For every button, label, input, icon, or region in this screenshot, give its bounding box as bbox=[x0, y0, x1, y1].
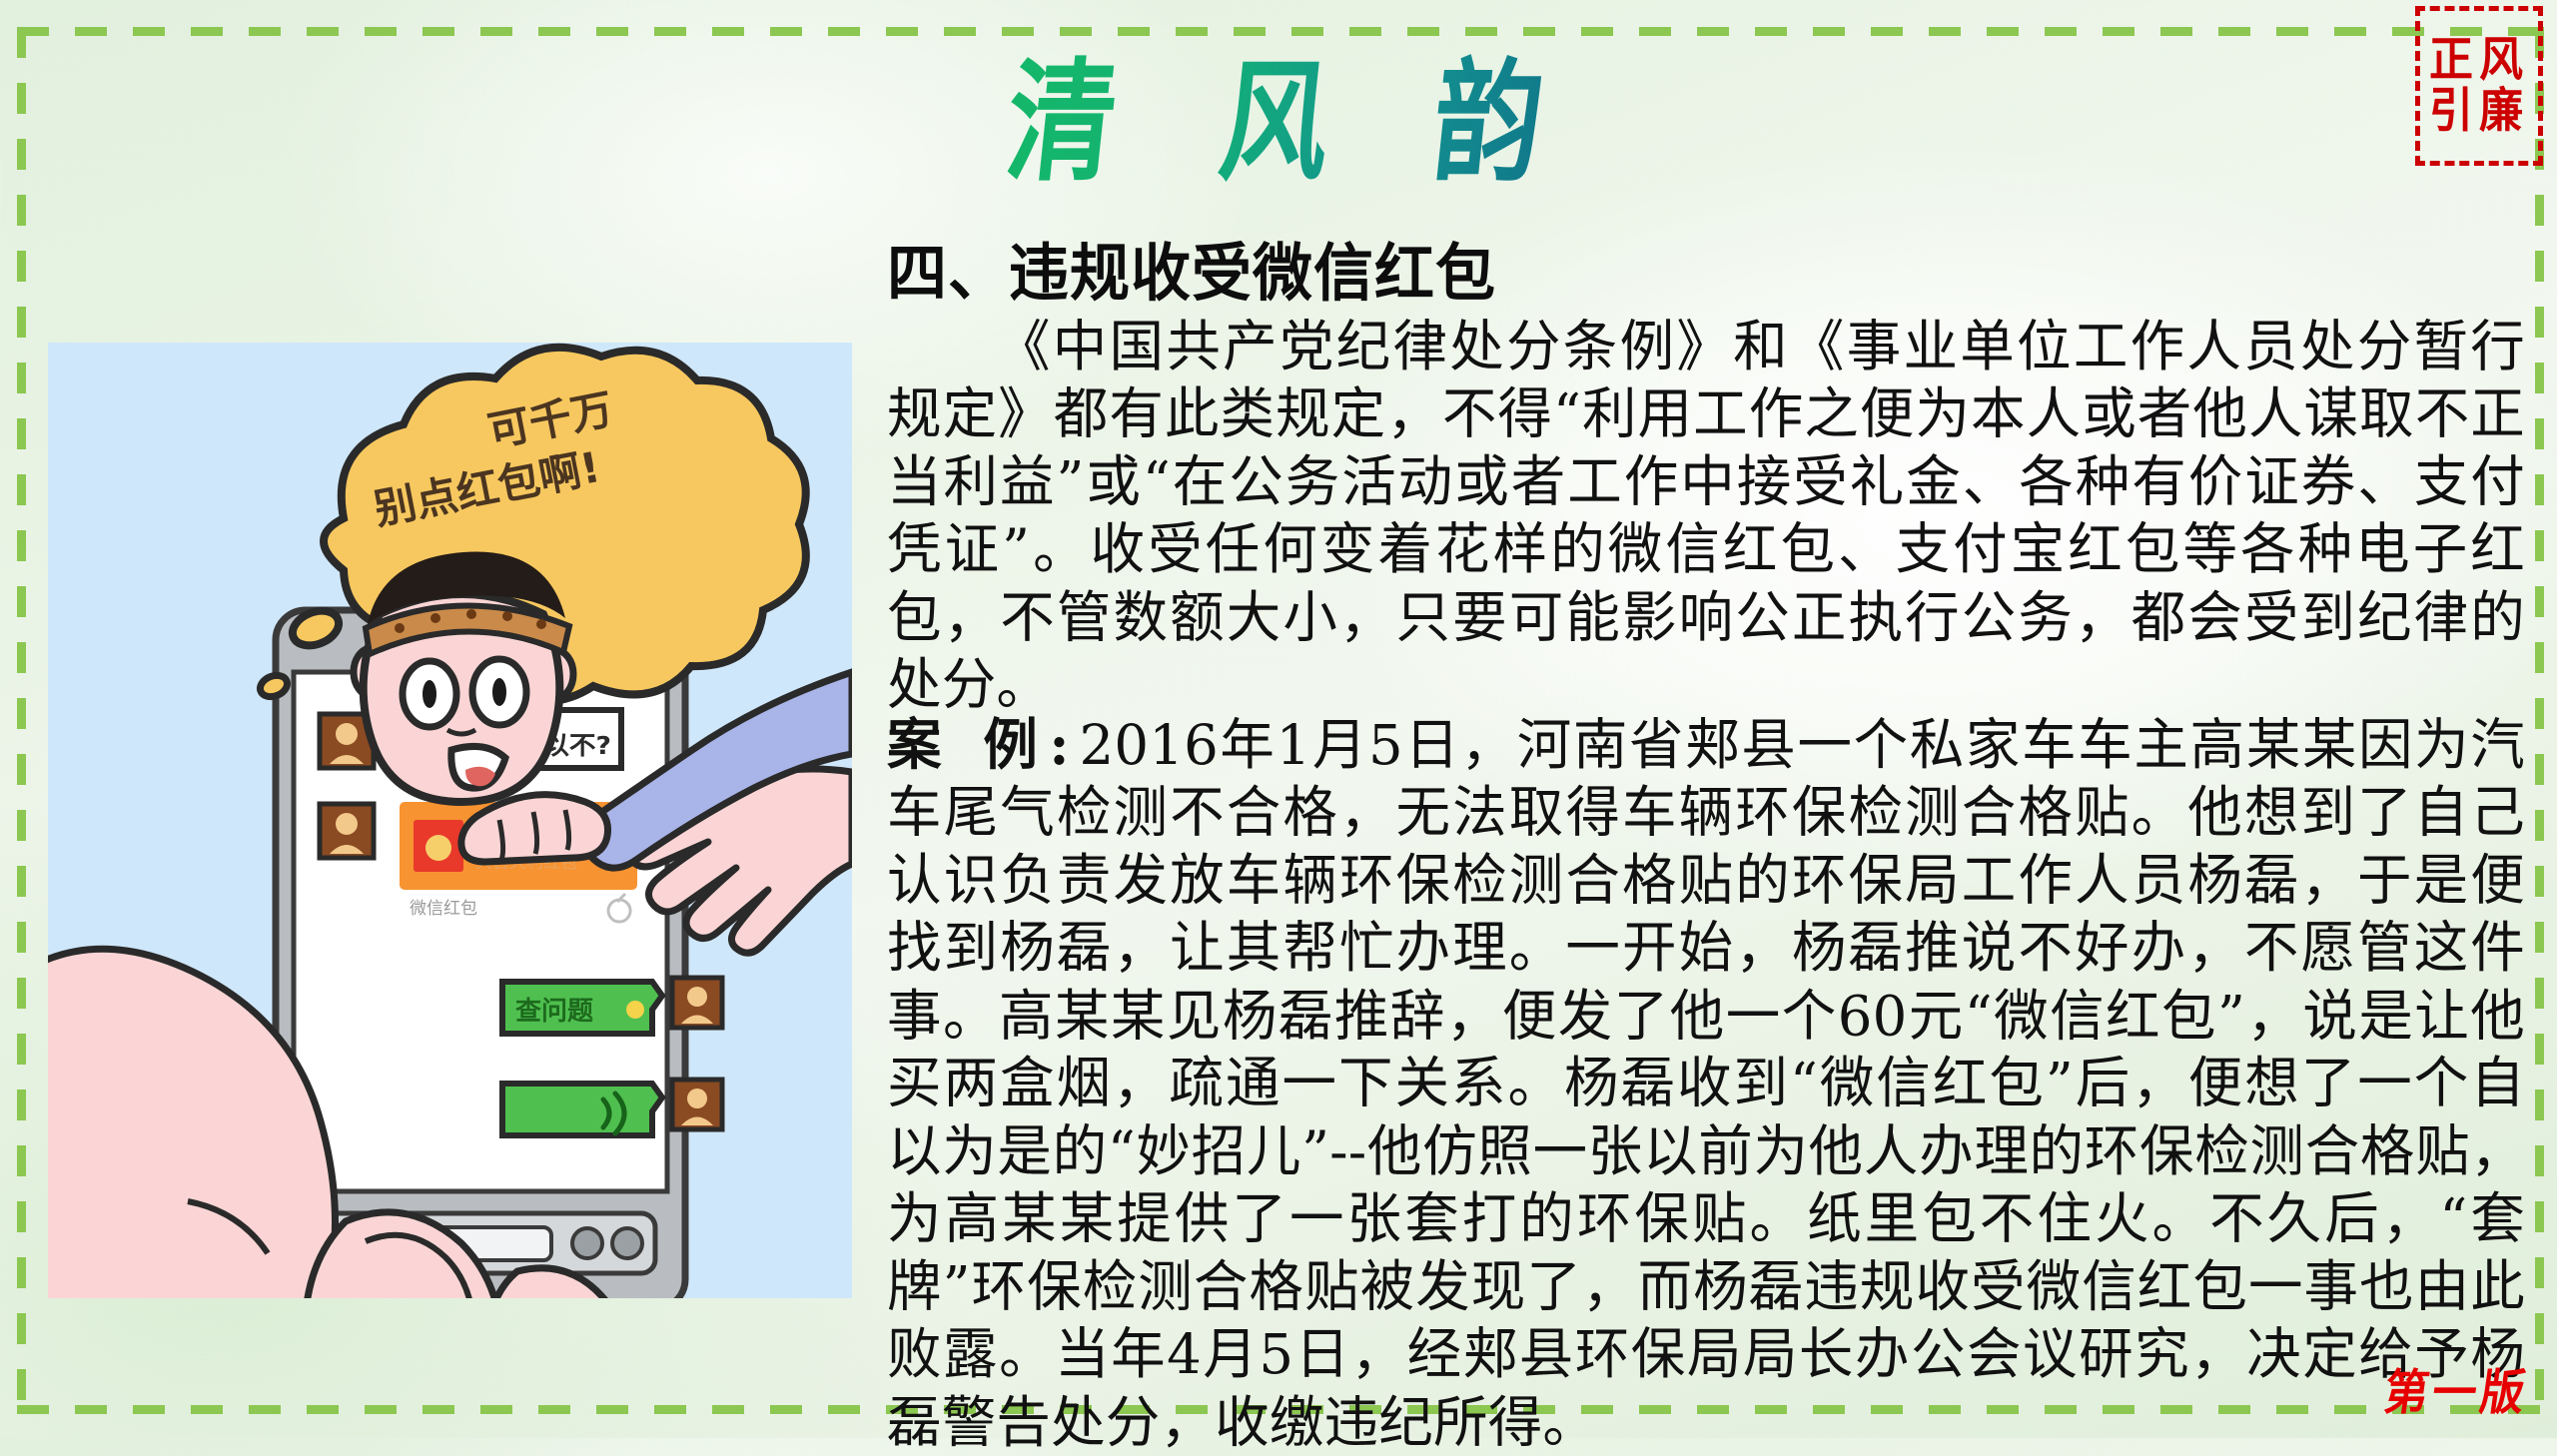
article-paragraph-1: 《中国共产党纪律处分条例》和《事业单位工作人员处分暂行规定》都有此类规定，不得“… bbox=[887, 313, 2525, 719]
newspaper-page: 清 风 韵 正风 引廉 bbox=[0, 0, 2557, 1438]
illustration-cartoon: 领导您看可以不? 恭喜发财 大吉大利红包 bbox=[48, 343, 852, 1298]
masthead-title: 清 风 韵 bbox=[969, 17, 1587, 207]
svg-text:微信红包: 微信红包 bbox=[410, 899, 477, 919]
seal-line-2: 引廉 bbox=[2429, 85, 2529, 138]
case-text: 2016年1月5日，河南省郏县一个私家车车主高某某因为汽车尾气检测不合格，无法取… bbox=[887, 712, 2525, 1454]
article-body: 四、违规收受微信红包 《中国共产党纪律处分条例》和《事业单位工作人员处分暂行规定… bbox=[887, 240, 2525, 1441]
article-heading: 四、违规收受微信红包 bbox=[887, 240, 2525, 310]
frame-left-dashed-line bbox=[17, 27, 26, 1414]
edition-marker: 第一版 bbox=[2380, 1353, 2534, 1423]
svg-text:查问题: 查问题 bbox=[515, 997, 593, 1027]
red-seal-stamp: 正风 引廉 bbox=[2415, 6, 2543, 166]
masthead: 清 风 韵 bbox=[0, 22, 2557, 202]
article-case-paragraph: 案 例:2016年1月5日，河南省郏县一个私家车车主高某某因为汽车尾气检测不合格… bbox=[887, 711, 2525, 1456]
case-label: 案 例: bbox=[887, 712, 1079, 777]
frame-right-dashed-line bbox=[2535, 27, 2544, 1414]
seal-line-1: 正风 bbox=[2429, 34, 2529, 87]
